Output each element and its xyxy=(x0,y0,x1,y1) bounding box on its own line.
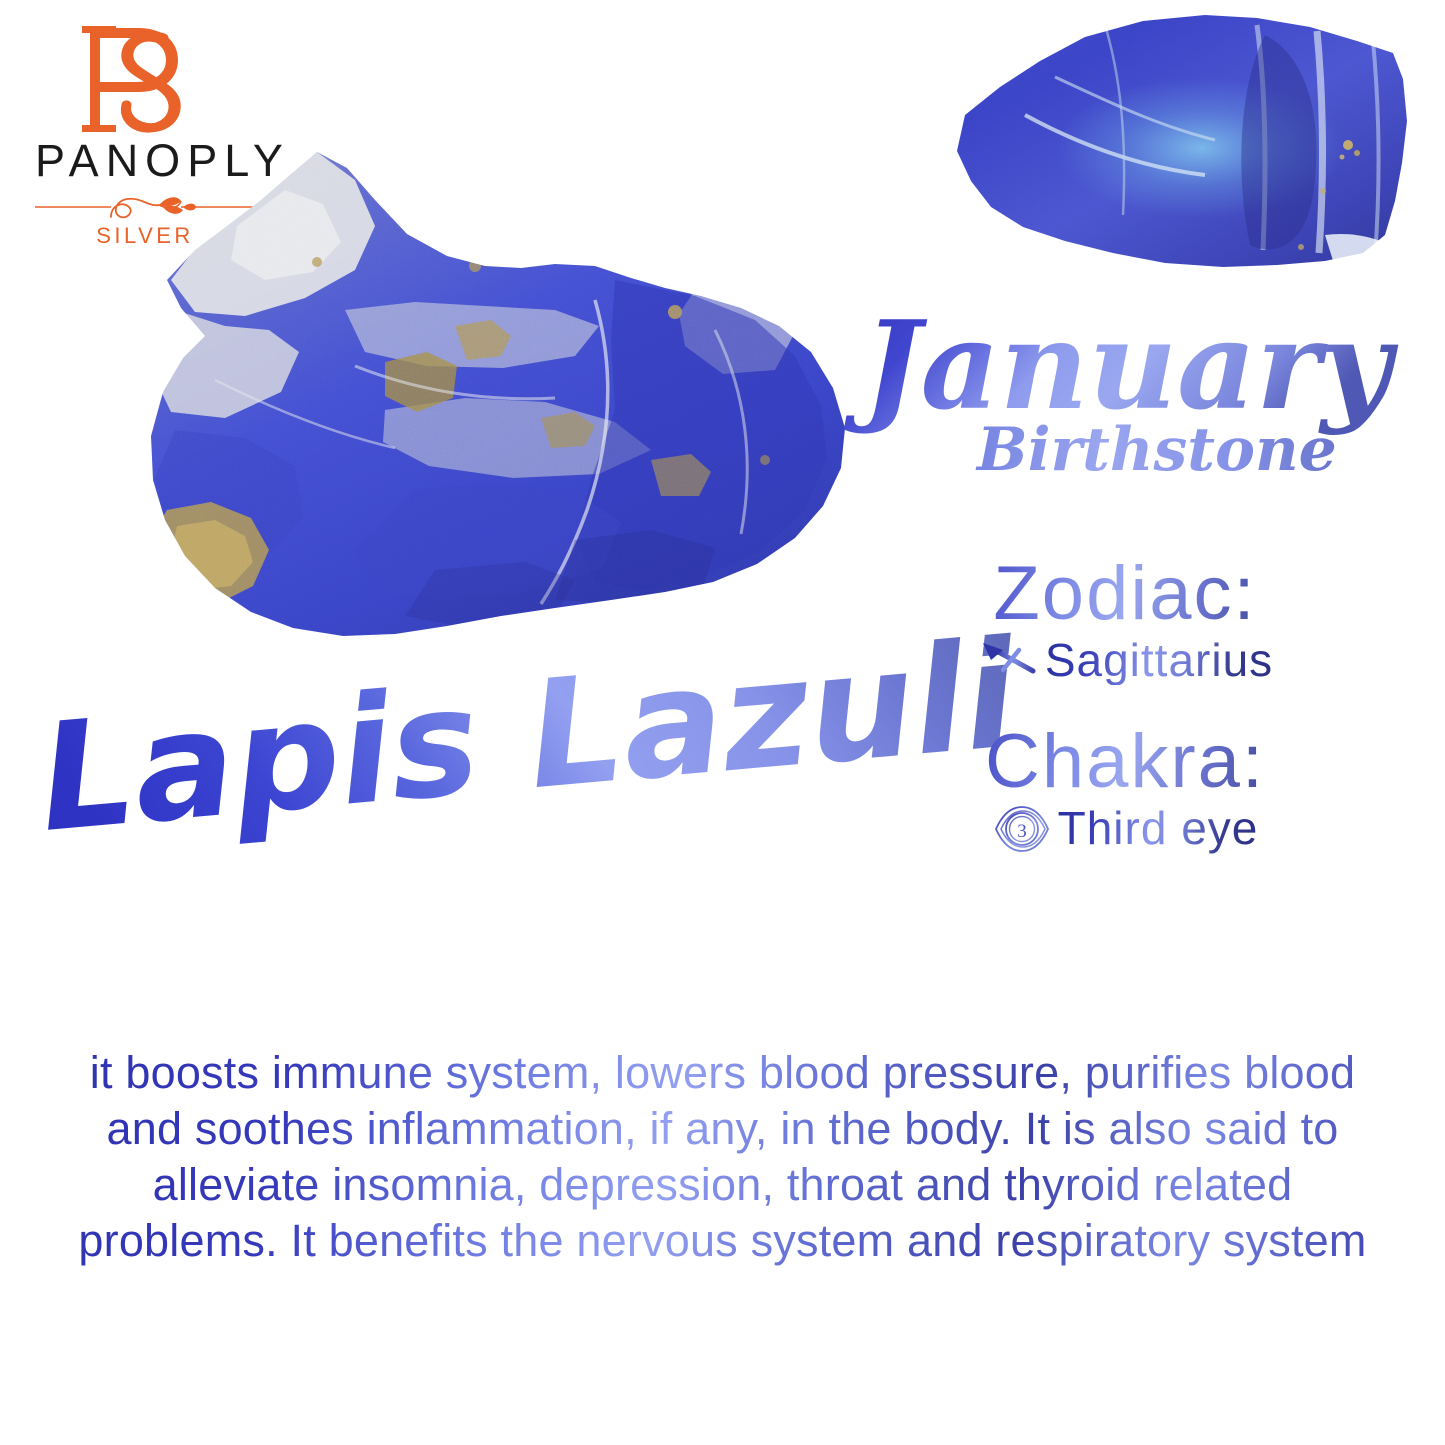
stone-attributes: Zodiac: xyxy=(895,555,1355,879)
lapis-lazuli-rough-specimen-image xyxy=(55,130,865,675)
stone-name-block: Lapis Lazuli xyxy=(35,690,925,890)
month-heading-block: January Birthstone xyxy=(855,300,1355,500)
poster-canvas: PANOPLY SILVER xyxy=(0,0,1445,1445)
month-subheading: Birthstone xyxy=(975,415,1337,485)
zodiac-value-row: Sagittarius xyxy=(895,635,1355,686)
third-eye-chakra-icon: 3 xyxy=(992,803,1052,855)
chakra-value-row: 3 Third eye xyxy=(895,803,1355,855)
chakra-icon-numeral: 3 xyxy=(1017,821,1027,842)
zodiac-group: Zodiac: xyxy=(895,555,1355,685)
lapis-lazuli-slab-image xyxy=(905,0,1425,280)
ps-monogram-icon xyxy=(60,14,230,144)
sagittarius-arrow-icon xyxy=(977,638,1039,682)
chakra-label: Chakra: xyxy=(895,723,1355,801)
zodiac-value: Sagittarius xyxy=(1045,635,1273,686)
chakra-group: Chakra: 3 xyxy=(895,723,1355,855)
zodiac-label: Zodiac: xyxy=(895,555,1355,633)
chakra-value: Third eye xyxy=(1058,803,1259,854)
description-paragraph: it boosts immune system, lowers blood pr… xyxy=(50,1045,1395,1269)
